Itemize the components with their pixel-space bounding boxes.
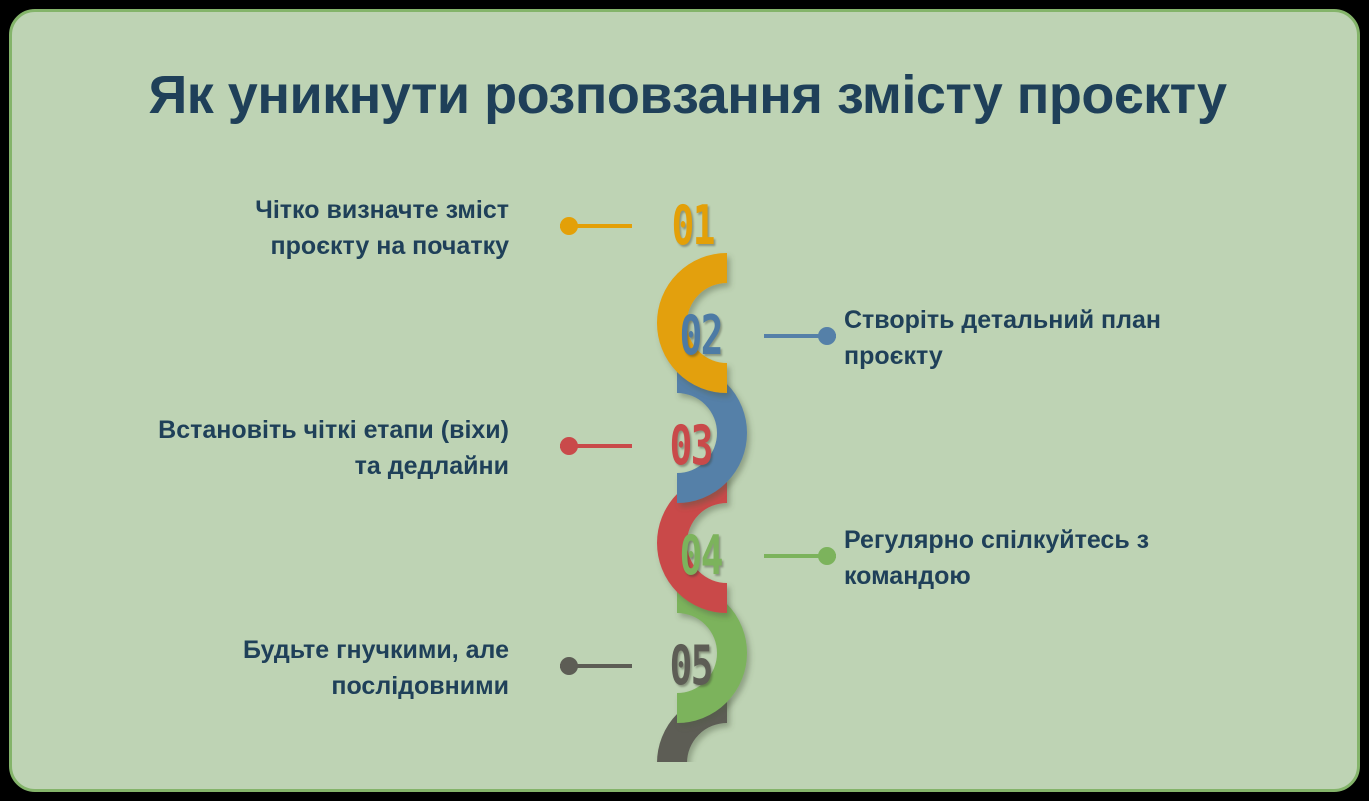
connector-dot-1 bbox=[560, 217, 578, 235]
connector-step-3 bbox=[560, 444, 632, 448]
step-number-1: 01 bbox=[672, 193, 714, 257]
step-label-2: Створіть детальний план проєкту bbox=[844, 303, 1204, 374]
connector-step-1 bbox=[560, 224, 632, 228]
step-number-3: 03 bbox=[670, 413, 712, 477]
connector-dot-3 bbox=[560, 437, 578, 455]
page-title: Як уникнути розповзання змісту проєкту bbox=[12, 64, 1360, 126]
connector-dot-2 bbox=[818, 327, 836, 345]
connector-step-4 bbox=[764, 554, 836, 558]
connector-dot-5 bbox=[560, 657, 578, 675]
connector-step-5 bbox=[560, 664, 632, 668]
slide-canvas: Як уникнути розповзання змісту проєкту 0… bbox=[9, 9, 1360, 792]
connector-step-2 bbox=[764, 334, 836, 338]
step-label-1: Чітко визначте зміст проєкту на початку bbox=[169, 193, 509, 264]
step-label-5: Будьте гнучкими, але послідовними bbox=[149, 633, 509, 704]
connector-dot-4 bbox=[818, 547, 836, 565]
step-label-3: Встановіть чіткі етапи (віхи) та дедлайн… bbox=[149, 413, 509, 484]
step-number-4: 04 bbox=[680, 523, 722, 587]
step-label-4: Регулярно спілкуйтесь з командою bbox=[844, 523, 1244, 594]
step-number-2: 02 bbox=[680, 303, 722, 367]
step-number-5: 05 bbox=[670, 633, 712, 697]
